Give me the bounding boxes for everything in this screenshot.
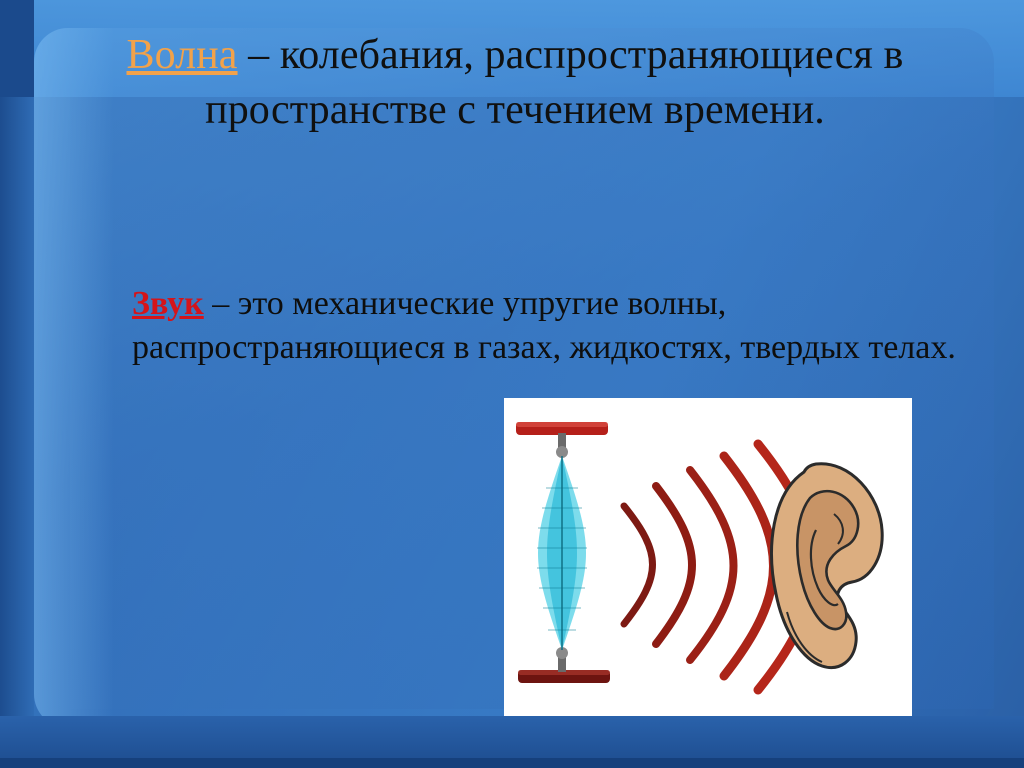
illustration-image — [504, 398, 912, 716]
background-bottom-strip — [0, 758, 1024, 768]
slide: Волна – колебания, распространяющиеся в … — [0, 0, 1024, 768]
background-top-left-corner — [0, 0, 34, 97]
slide-body-text: Звук – это механические упругие волны, р… — [132, 282, 1002, 369]
title-keyword: Волна — [127, 32, 238, 78]
title-rest: – колебания, распространяющиеся в простр… — [205, 32, 903, 133]
background-left-band — [0, 0, 34, 768]
body-keyword: Звук — [132, 285, 204, 322]
body-rest: – это механические упругие волны, распро… — [132, 285, 956, 366]
slide-title: Волна – колебания, распространяющиеся в … — [60, 28, 970, 139]
